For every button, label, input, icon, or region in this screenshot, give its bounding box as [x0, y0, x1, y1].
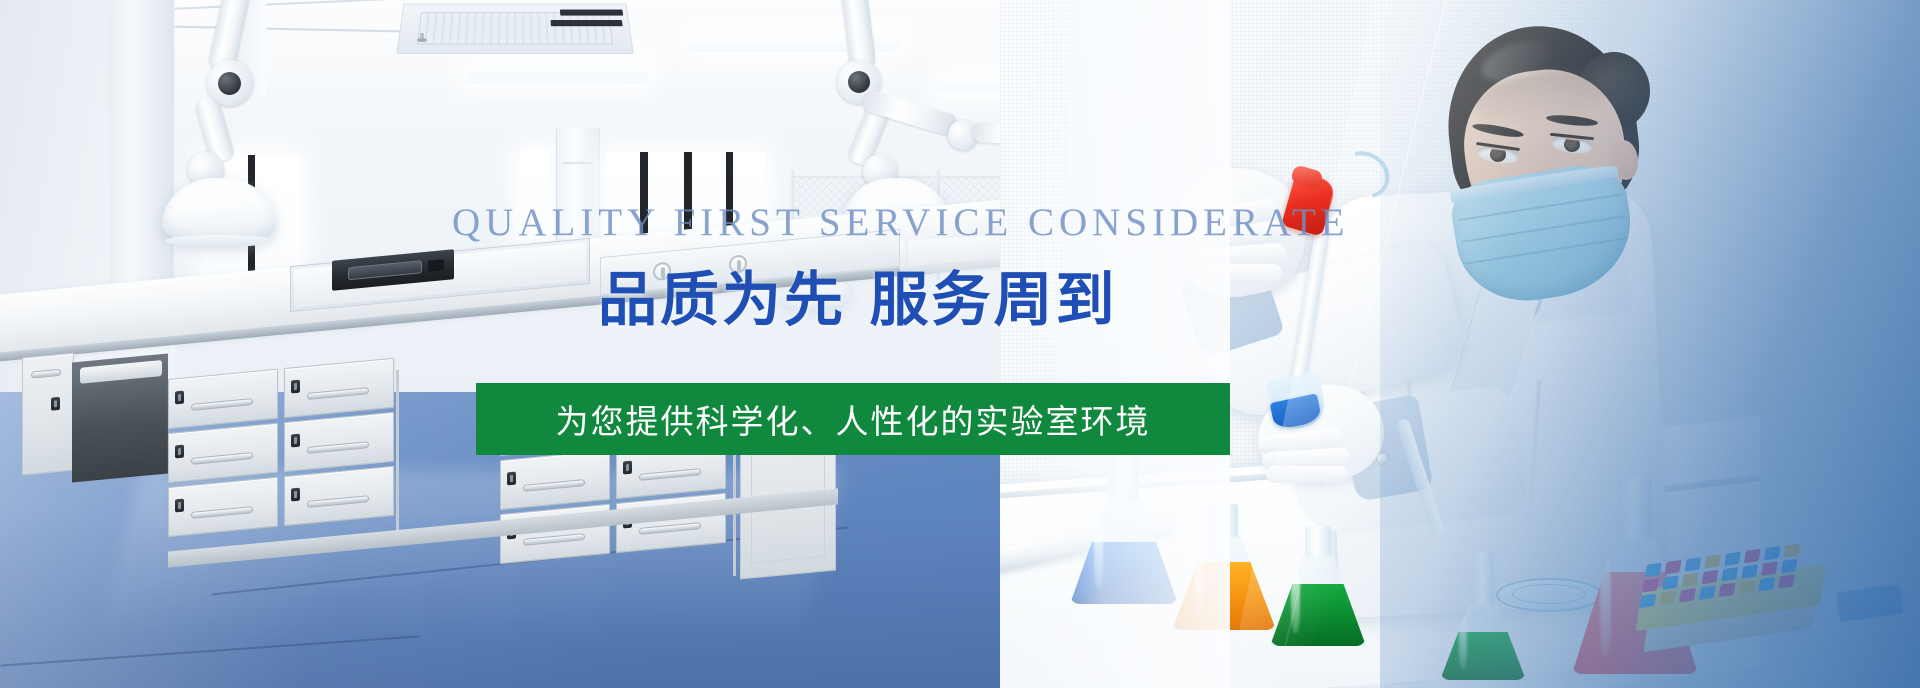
english-tagline: QUALITY FIRST SERVICE CONSIDERATE: [452, 200, 1350, 245]
chinese-headline: 品质为先 服务周到: [598, 252, 1118, 337]
subtitle-green-bar: 为您提供科学化、人性化的实验室环境: [476, 383, 1230, 455]
chinese-subtitle: 为您提供科学化、人性化的实验室环境: [556, 395, 1151, 443]
banner-text-block: QUALITY FIRST SERVICE CONSIDERATE 品质为先 服…: [0, 0, 1920, 688]
lab-hero-banner: QUALITY FIRST SERVICE CONSIDERATE 品质为先 服…: [0, 0, 1920, 688]
